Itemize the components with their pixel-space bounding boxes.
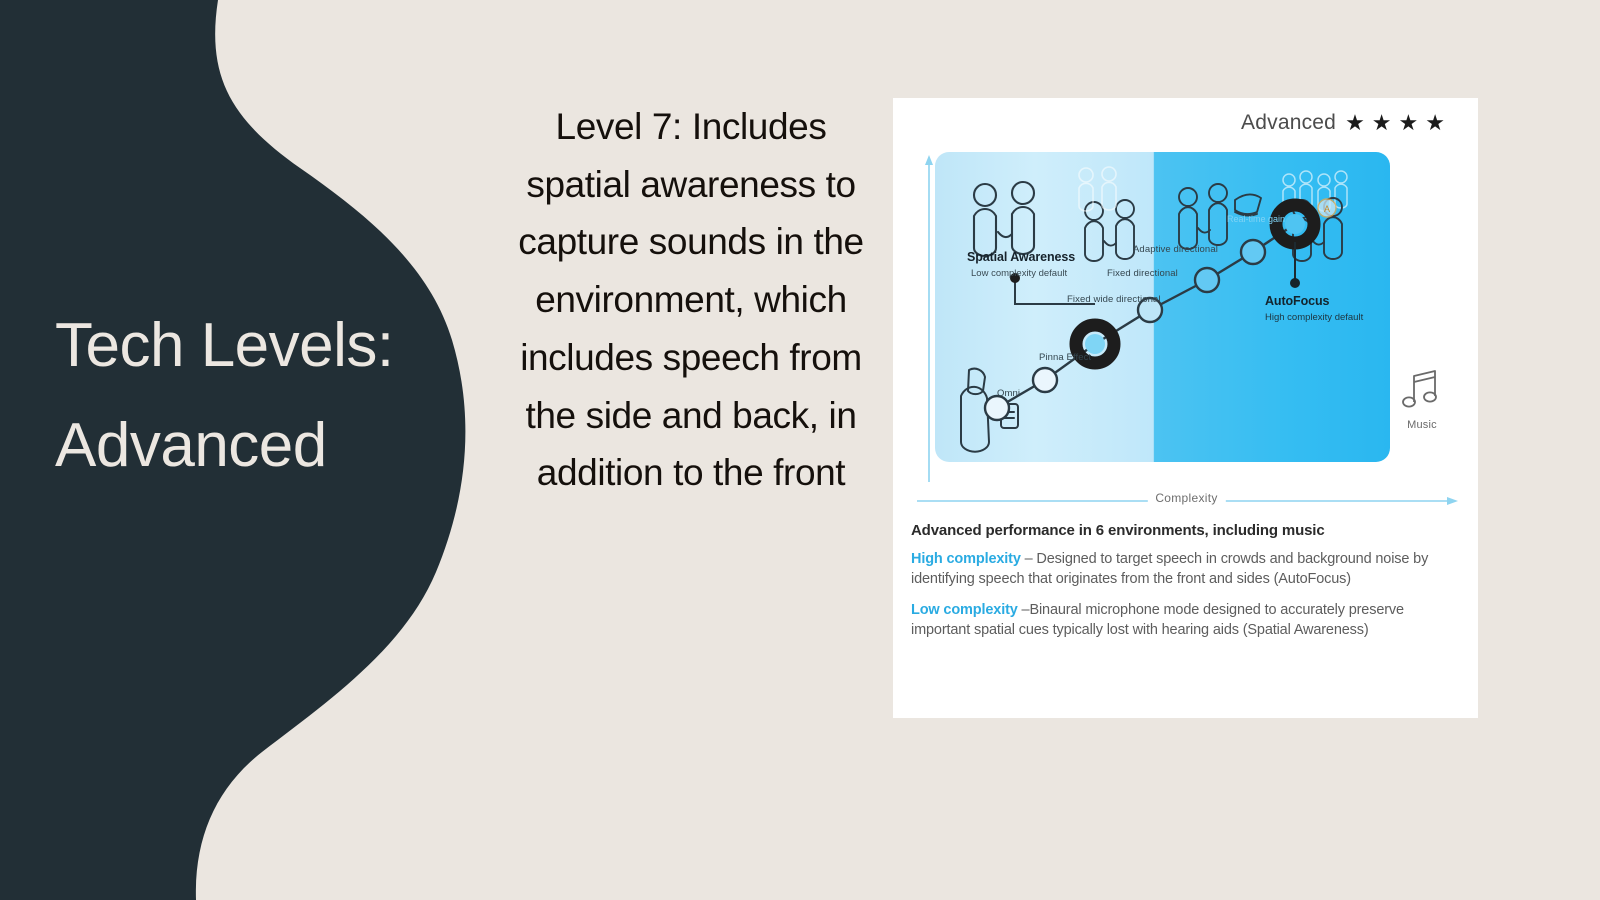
y-axis: Communication bbox=[907, 152, 937, 482]
annotation-faint-badge: Real-time gain bbox=[1227, 214, 1285, 224]
copy-paragraph-low: Low complexity –Binaural microphone mode… bbox=[911, 601, 1463, 640]
annotation-spatial-title: Spatial Awareness bbox=[967, 250, 1075, 264]
copy-lead-low: Low complexity bbox=[911, 602, 1018, 618]
card-header: Advanced ★ ★ ★ ★ bbox=[1241, 111, 1445, 135]
music-note-icon bbox=[1402, 368, 1442, 410]
mode-chain: A bbox=[985, 199, 1336, 420]
product-card: Advanced ★ ★ ★ ★ Communication bbox=[893, 98, 1478, 718]
svg-text:A: A bbox=[1324, 204, 1330, 214]
copy-paragraph-high: High complexity – Designed to target spe… bbox=[911, 550, 1463, 589]
chart-point-omni bbox=[985, 396, 1009, 420]
tier-label: Advanced bbox=[1241, 111, 1336, 135]
annotation-autofocus-title: AutoFocus bbox=[1265, 294, 1329, 308]
chart-point-adaptive-directional bbox=[1241, 240, 1265, 264]
annotation-autofocus-sub: High complexity default bbox=[1265, 312, 1363, 323]
star-rating: ★ ★ ★ ★ bbox=[1345, 112, 1445, 134]
chart-point-fixed-directional bbox=[1195, 268, 1219, 292]
star-icon: ★ bbox=[1399, 112, 1419, 134]
music-legend: Music bbox=[1388, 368, 1456, 431]
x-axis: Complexity bbox=[909, 490, 1464, 512]
body-paragraph: Level 7: Includes spatial awareness to c… bbox=[507, 98, 875, 502]
star-icon: ★ bbox=[1372, 112, 1392, 134]
star-icon: ★ bbox=[1425, 112, 1445, 134]
copy-heading: Advanced performance in 6 environments, … bbox=[911, 522, 1463, 539]
card-copy: Advanced performance in 6 environments, … bbox=[911, 522, 1463, 652]
page-title: Tech Levels: Advanced bbox=[55, 296, 455, 497]
people-pair-icon bbox=[974, 182, 1034, 256]
people-pair-faint-icon bbox=[1079, 167, 1116, 211]
x-axis-label: Complexity bbox=[1147, 491, 1225, 505]
annotation-spatial-sub: Low complexity default bbox=[971, 268, 1067, 279]
plot-panel: A Spatial Awareness Low complexity defau… bbox=[935, 152, 1390, 462]
annotation-pinna: Pinna Effect bbox=[1039, 352, 1091, 363]
y-axis-arrow-icon bbox=[907, 152, 937, 482]
music-caption: Music bbox=[1388, 419, 1456, 431]
annotation-fixed-wide: Fixed wide directional bbox=[1067, 294, 1161, 305]
annotation-adaptive-directional: Adaptive directional bbox=[1133, 244, 1218, 255]
annotation-fixed-directional: Fixed directional bbox=[1107, 268, 1178, 279]
star-icon: ★ bbox=[1345, 112, 1365, 134]
chart-point-pinna bbox=[1033, 368, 1057, 392]
copy-lead-high: High complexity bbox=[911, 551, 1021, 567]
annotation-omni: Omni bbox=[997, 388, 1020, 399]
chart-area: Communication bbox=[893, 150, 1478, 502]
